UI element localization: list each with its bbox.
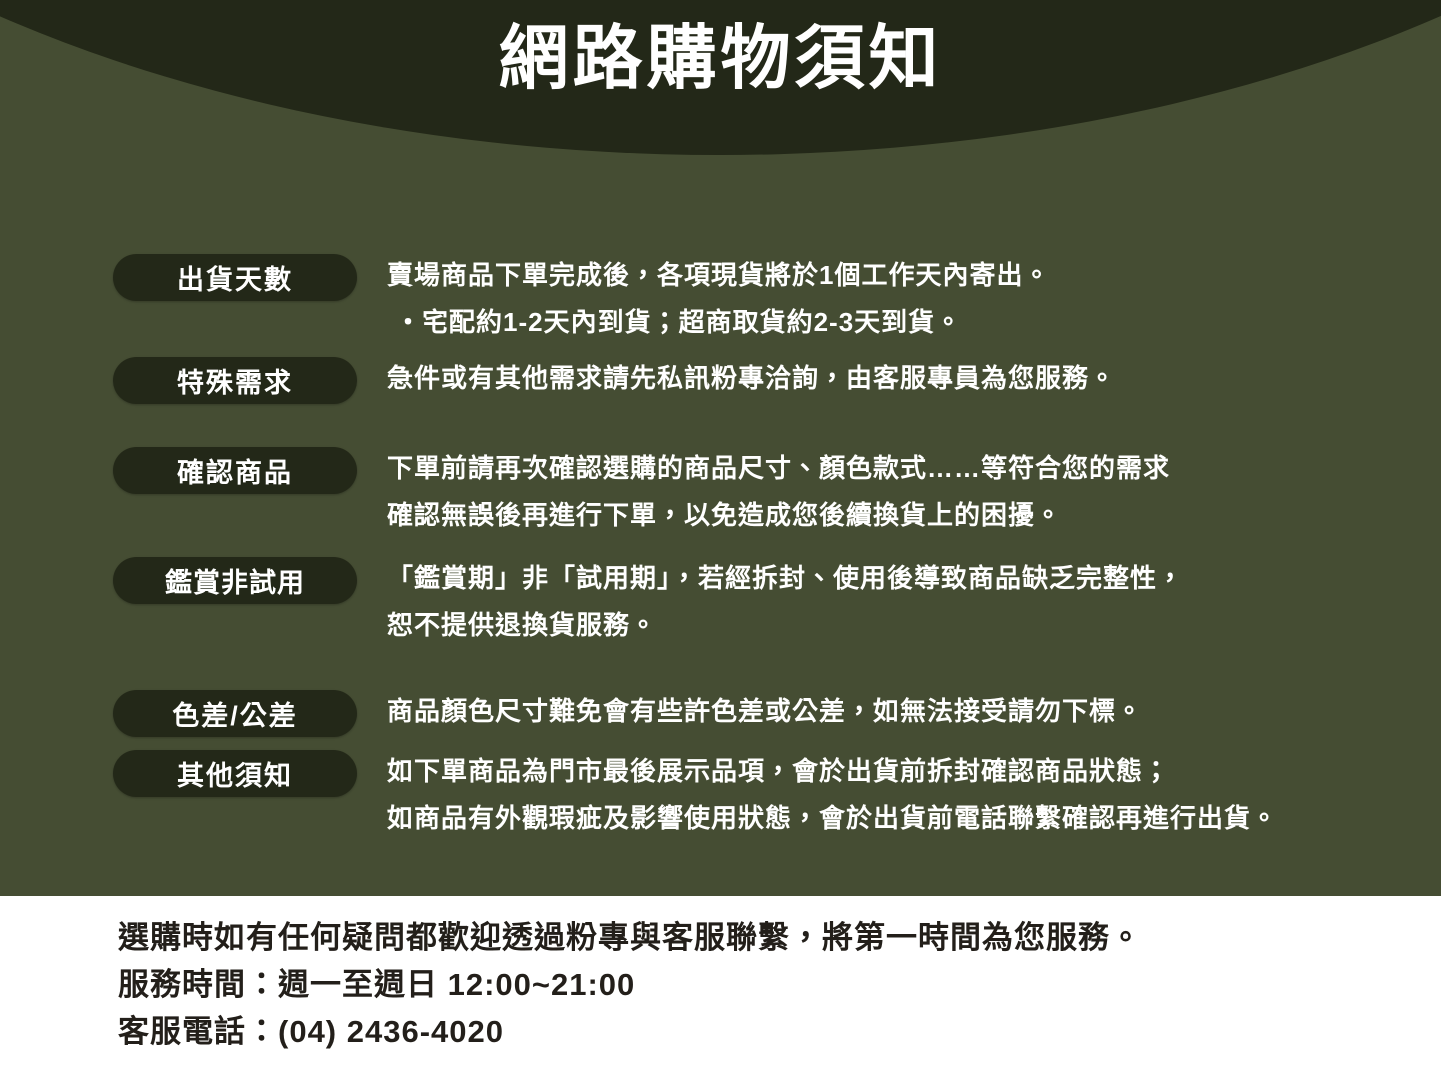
notice-row-color-tolerance: 色差/公差 商品顏色尺寸難免會有些許色差或公差，如無法接受請勿下標。: [0, 690, 1441, 737]
contact-footer: 選購時如有任何疑問都歡迎透過粉專與客服聯繫，將第一時間為您服務。 服務時間：週一…: [0, 896, 1441, 1080]
notice-text-shipping-days: 賣場商品下單完成後，各項現貨將於1個工作天內寄出。 ・宅配約1-2天內到貨；超商…: [387, 252, 1441, 346]
notice-line: ・宅配約1-2天內到貨；超商取貨約2-3天到貨。: [387, 299, 1441, 346]
footer-line-service-phone: 客服電話：(04) 2436-4020: [118, 1008, 1142, 1055]
pill-label-other-notes: 其他須知: [113, 750, 357, 797]
notice-row-other-notes: 其他須知 如下單商品為門市最後展示品項，會於出貨前拆封確認商品狀態； 如商品有外…: [0, 750, 1441, 842]
pill-label-color-tolerance: 色差/公差: [113, 690, 357, 737]
notice-text-confirm-product: 下單前請再次確認選購的商品尺寸、顏色款式……等符合您的需求 確認無誤後再進行下單…: [387, 445, 1441, 539]
page-title: 網路購物須知: [0, 22, 1441, 96]
notice-line: 如商品有外觀瑕疵及影響使用狀態，會於出貨前電話聯繫確認再進行出貨。: [387, 795, 1441, 842]
notice-row-inspection-not-trial: 鑑賞非試用 「鑑賞期」非「試用期」，若經拆封、使用後導致商品缺乏完整性， 恕不提…: [0, 557, 1441, 649]
footer-line-contact-invite: 選購時如有任何疑問都歡迎透過粉專與客服聯繫，將第一時間為您服務。: [118, 914, 1142, 961]
pill-label-inspection-not-trial: 鑑賞非試用: [113, 557, 357, 604]
notice-row-special-request: 特殊需求 急件或有其他需求請先私訊粉專洽詢，由客服專員為您服務。: [0, 357, 1441, 404]
notice-row-confirm-product: 確認商品 下單前請再次確認選購的商品尺寸、顏色款式……等符合您的需求 確認無誤後…: [0, 447, 1441, 539]
notice-line: 確認無誤後再進行下單，以免造成您後續換貨上的困擾。: [387, 492, 1441, 539]
pill-label-special-request: 特殊需求: [113, 357, 357, 404]
notice-line: 商品顏色尺寸難免會有些許色差或公差，如無法接受請勿下標。: [387, 688, 1441, 735]
footer-line-service-hours: 服務時間：週一至週日 12:00~21:00: [118, 961, 1142, 1008]
notice-row-shipping-days: 出貨天數 賣場商品下單完成後，各項現貨將於1個工作天內寄出。 ・宅配約1-2天內…: [0, 254, 1441, 346]
notice-line: 賣場商品下單完成後，各項現貨將於1個工作天內寄出。: [387, 252, 1441, 299]
notice-page: 網路購物須知 出貨天數 賣場商品下單完成後，各項現貨將於1個工作天內寄出。 ・宅…: [0, 0, 1441, 1080]
pill-label-confirm-product: 確認商品: [113, 447, 357, 494]
contact-footer-text: 選購時如有任何疑問都歡迎透過粉專與客服聯繫，將第一時間為您服務。 服務時間：週一…: [118, 914, 1142, 1055]
notice-line: 恕不提供退換貨服務。: [387, 602, 1441, 649]
notice-text-special-request: 急件或有其他需求請先私訊粉專洽詢，由客服專員為您服務。: [387, 355, 1441, 402]
notice-text-other-notes: 如下單商品為門市最後展示品項，會於出貨前拆封確認商品狀態； 如商品有外觀瑕疵及影…: [387, 748, 1441, 842]
notice-line: 下單前請再次確認選購的商品尺寸、顏色款式……等符合您的需求: [387, 445, 1441, 492]
pill-label-shipping-days: 出貨天數: [113, 254, 357, 301]
notice-text-inspection-not-trial: 「鑑賞期」非「試用期」，若經拆封、使用後導致商品缺乏完整性， 恕不提供退換貨服務…: [387, 555, 1441, 649]
notice-line: 「鑑賞期」非「試用期」，若經拆封、使用後導致商品缺乏完整性，: [387, 555, 1441, 602]
notice-line: 急件或有其他需求請先私訊粉專洽詢，由客服專員為您服務。: [387, 355, 1441, 402]
notice-line: 如下單商品為門市最後展示品項，會於出貨前拆封確認商品狀態；: [387, 748, 1441, 795]
notice-text-color-tolerance: 商品顏色尺寸難免會有些許色差或公差，如無法接受請勿下標。: [387, 688, 1441, 735]
